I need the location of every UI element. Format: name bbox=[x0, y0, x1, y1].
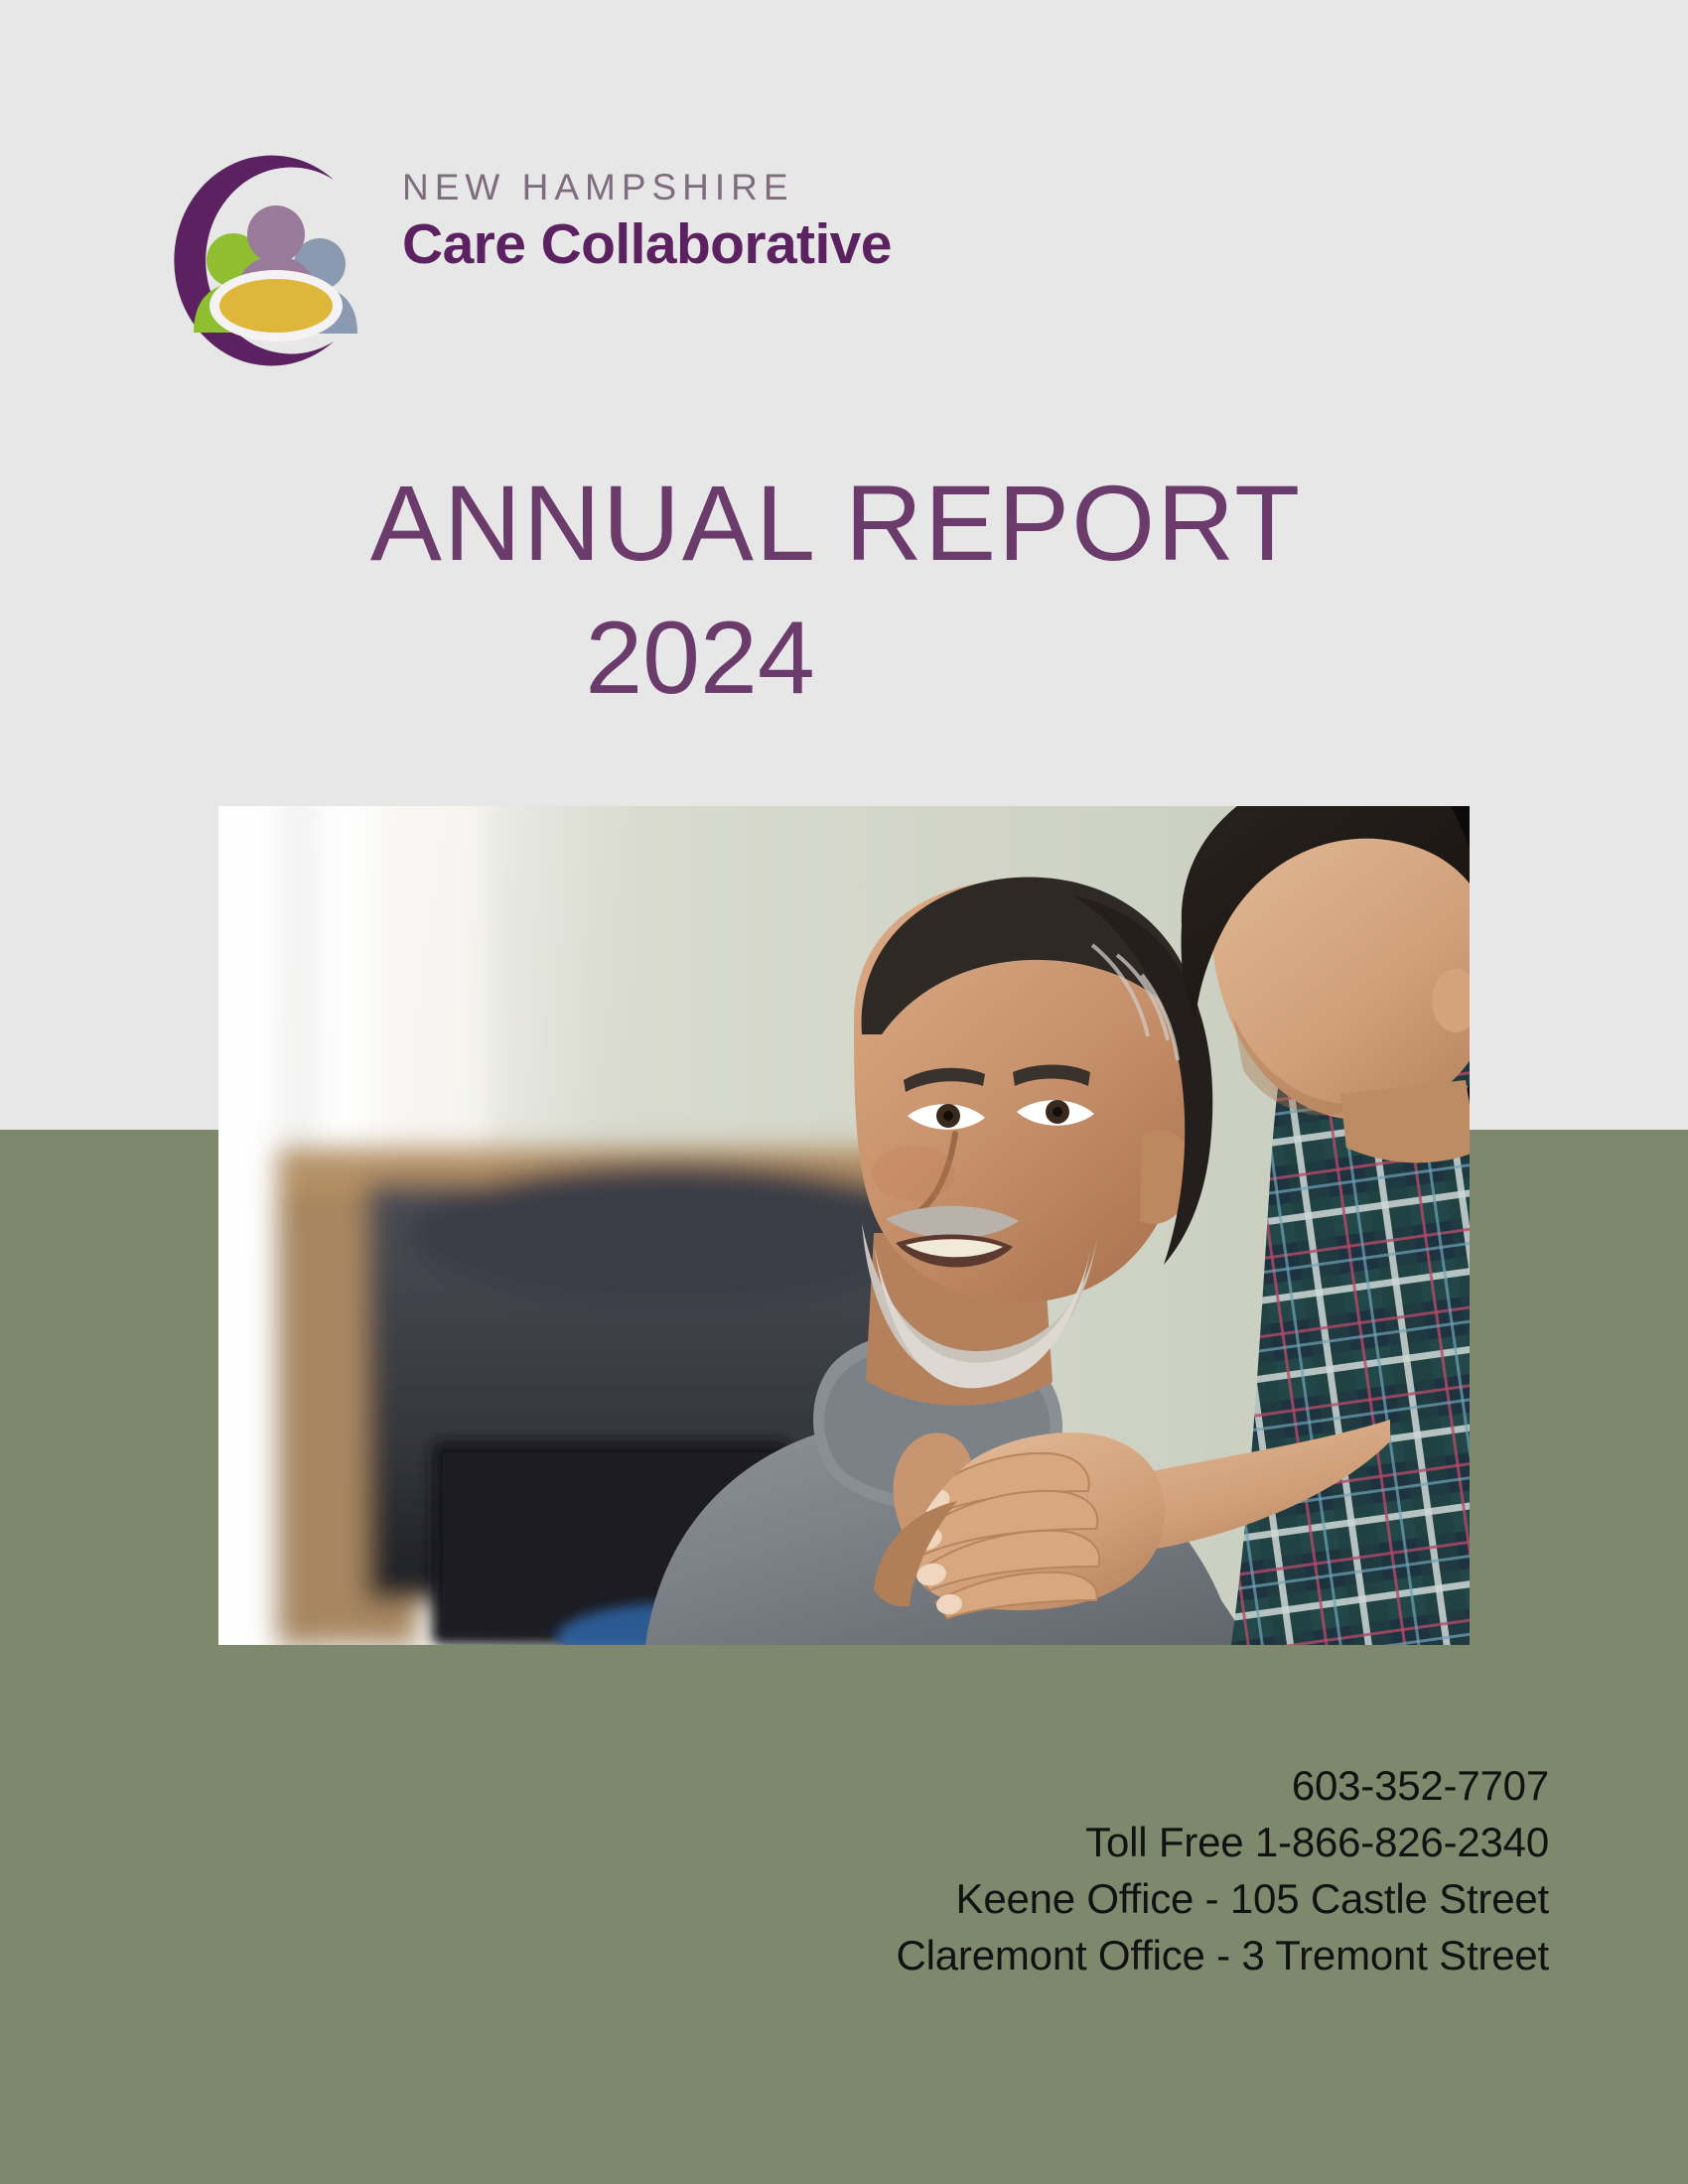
report-year: 2024 bbox=[0, 602, 1688, 715]
contact-block: 603-352-7707 Toll Free 1-866-826-2340 Ke… bbox=[655, 1757, 1549, 1983]
logo-mark-icon bbox=[159, 149, 382, 372]
contact-keene-office: Keene Office - 105 Castle Street bbox=[655, 1870, 1549, 1927]
contact-claremont-office: Claremont Office - 3 Tremont Street bbox=[655, 1927, 1549, 1983]
contact-phone: 603-352-7707 bbox=[655, 1757, 1549, 1814]
logo-wordmark: NEW HAMPSHIRE Care Collaborative bbox=[402, 169, 892, 276]
page-title: ANNUAL REPORT bbox=[0, 467, 1688, 580]
contact-toll-free: Toll Free 1-866-826-2340 bbox=[655, 1814, 1549, 1870]
logo-line-care-collaborative: Care Collaborative bbox=[402, 214, 892, 276]
logo-line-new-hampshire: NEW HAMPSHIRE bbox=[402, 169, 892, 205]
cover-title-block: ANNUAL REPORT 2024 bbox=[0, 467, 1688, 716]
report-cover-page: NEW HAMPSHIRE Care Collaborative ANNUAL … bbox=[0, 0, 1688, 2184]
organization-logo: NEW HAMPSHIRE Care Collaborative bbox=[159, 149, 894, 382]
hero-photo bbox=[218, 806, 1470, 1645]
